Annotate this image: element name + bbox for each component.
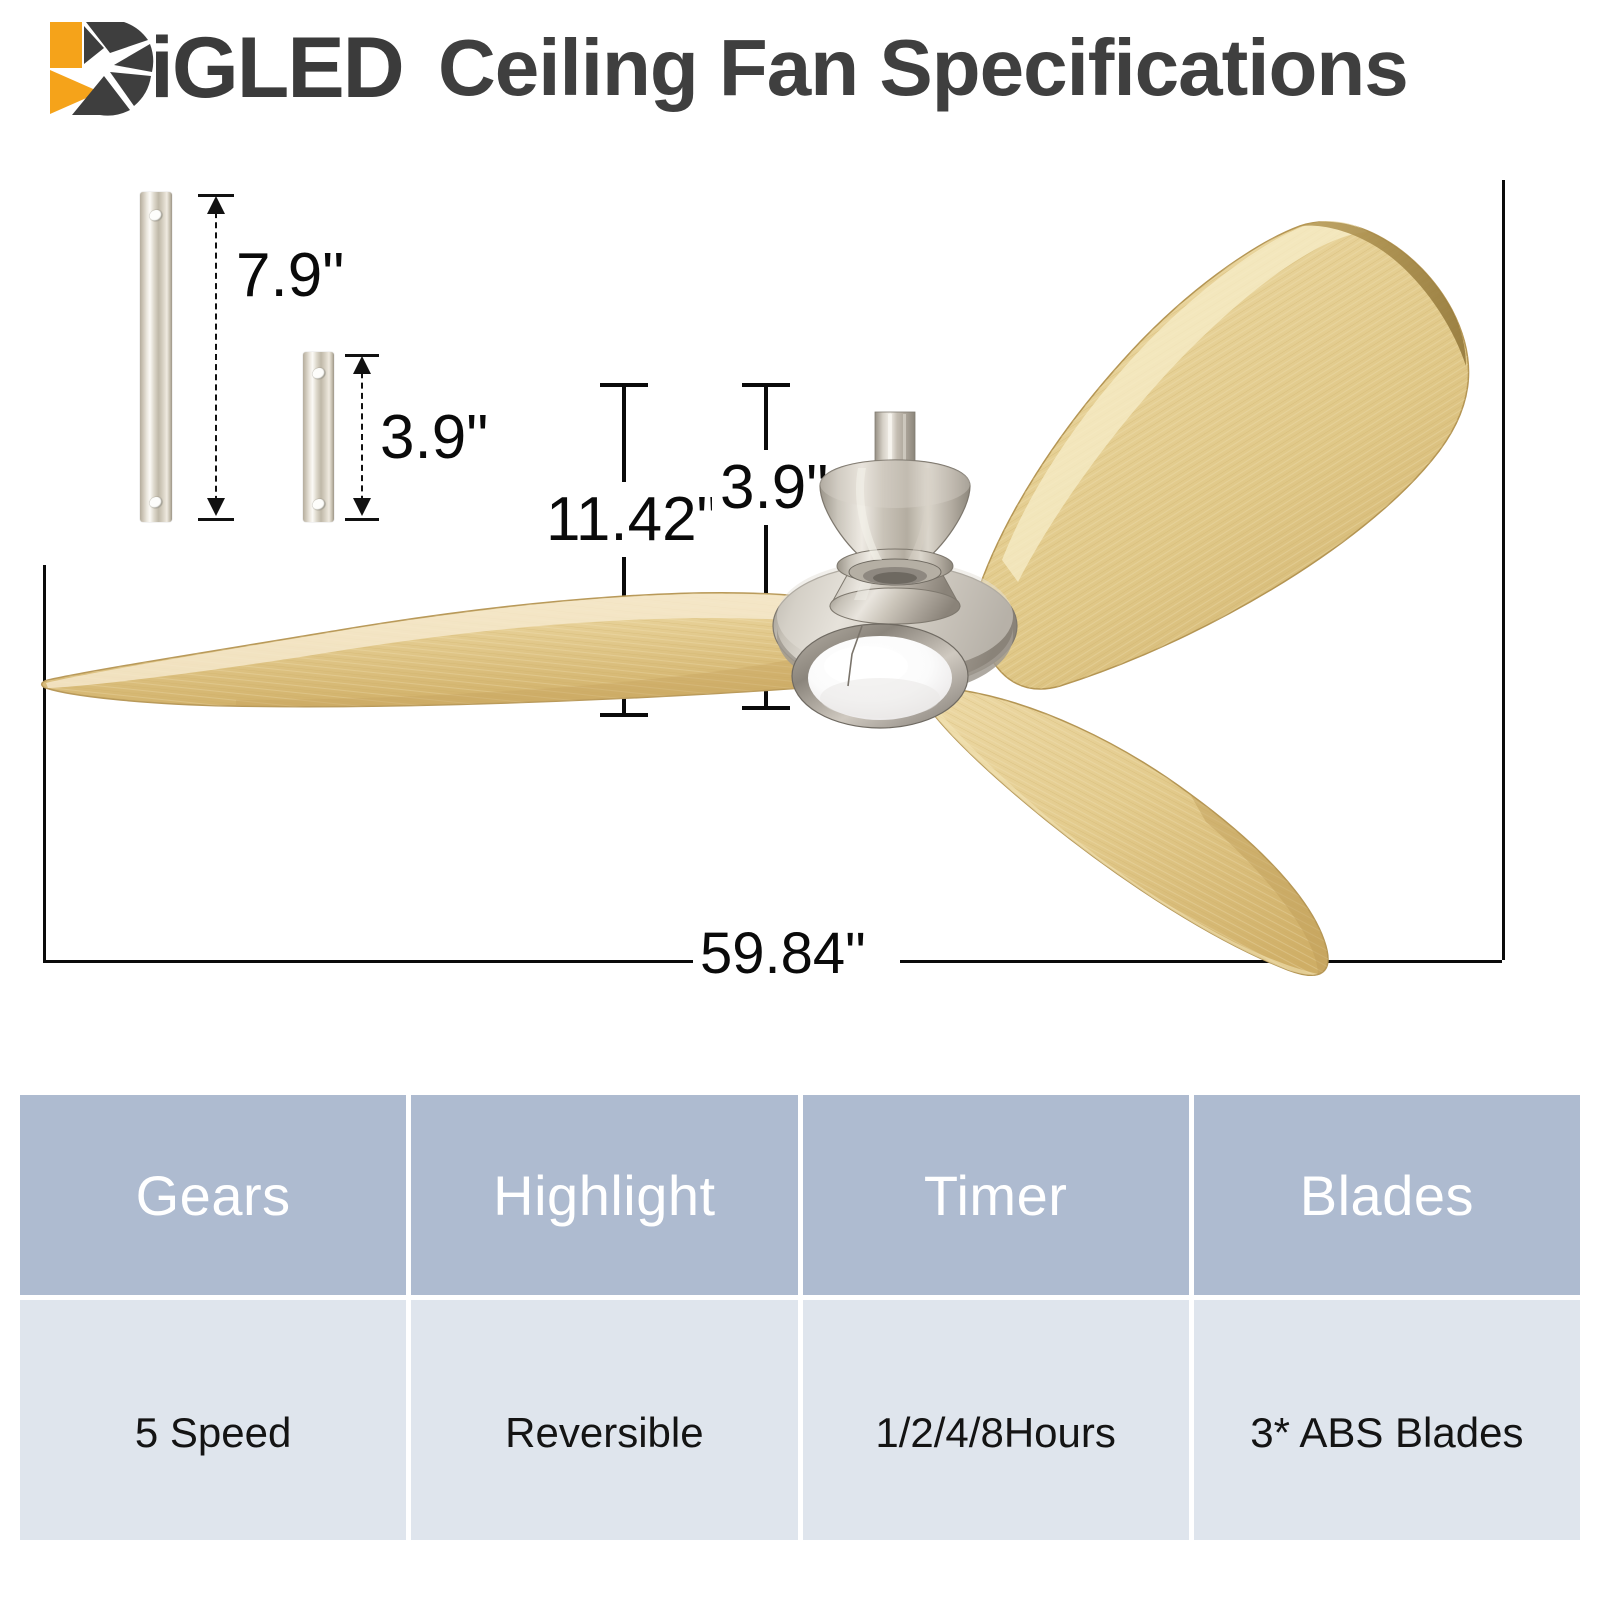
ceiling-canopy [820, 460, 970, 585]
page-header: iGLED Ceiling Fan Specifications [0, 0, 1600, 130]
specification-table: Gears Highlight Timer Blades 5 Speed Rev… [20, 1095, 1580, 1535]
page-title: Ceiling Fan Specifications [438, 16, 1408, 120]
brand-wordmark: iGLED [150, 16, 403, 120]
digled-logo-icon [38, 18, 156, 118]
table-cell-gears: 5 Speed [20, 1300, 406, 1540]
led-light-kit [792, 624, 968, 728]
table-cell-timer: 1/2/4/8Hours [803, 1300, 1189, 1540]
fan-dimension-diagram: 7.9" 3.9" 11.42" 3.9" 59.84" [0, 130, 1600, 1080]
ceiling-fan-illustration [0, 130, 1600, 1080]
fan-blade-lower-right [916, 680, 1328, 975]
table-header-highlight: Highlight [411, 1095, 797, 1295]
brand-wordmark-text: iGLED [150, 16, 403, 120]
table-header-timer: Timer [803, 1095, 1189, 1295]
table-cell-blades: 3* ABS Blades [1194, 1300, 1580, 1540]
fan-blade-upper-right [975, 221, 1469, 689]
table-header-gears: Gears [20, 1095, 406, 1295]
fan-blade-left [42, 593, 851, 707]
table-cell-highlight: Reversible [411, 1300, 797, 1540]
table-header-blades: Blades [1194, 1095, 1580, 1295]
product-spec-sheet: iGLED Ceiling Fan Specifications 7.9" 3.… [0, 0, 1600, 1600]
